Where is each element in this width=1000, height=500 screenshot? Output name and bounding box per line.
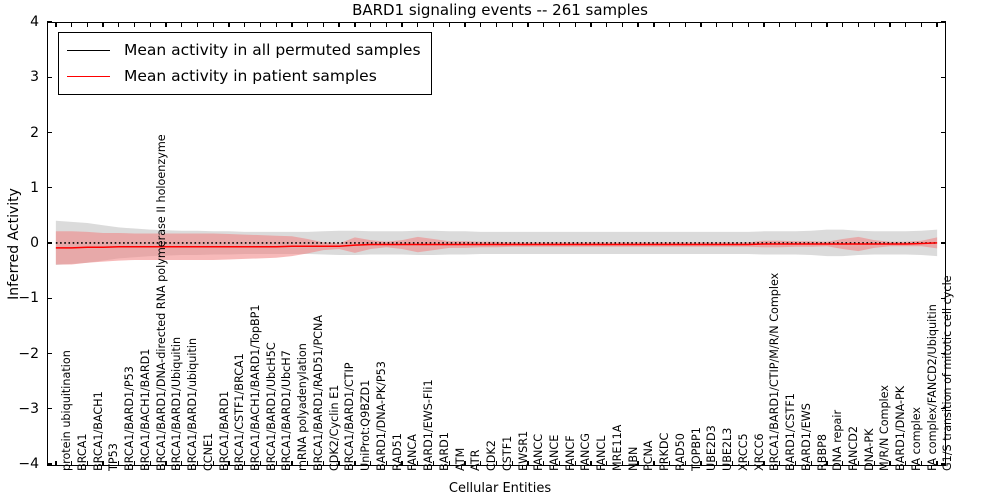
- y-tick-label: 3: [30, 69, 39, 85]
- x-tick: [590, 23, 591, 27]
- x-tick: [653, 23, 654, 27]
- y-tick: [47, 21, 52, 22]
- y-tick-label: 1: [30, 180, 39, 196]
- x-tick: [889, 23, 890, 27]
- y-tick: [941, 21, 946, 22]
- legend-label-patient: Mean activity in patient samples: [124, 67, 377, 85]
- x-tick: [433, 23, 434, 27]
- y-tick: [47, 77, 52, 78]
- y-tick-label: 2: [30, 125, 39, 141]
- x-tick: [858, 23, 859, 27]
- x-tick-label: ATM: [454, 448, 467, 471]
- x-tick-label: NBN: [627, 447, 640, 471]
- y-tick: [941, 187, 946, 188]
- x-tick: [763, 23, 764, 27]
- x-tick-label: BARD1/EWS: [800, 403, 813, 471]
- x-tick: [354, 23, 355, 27]
- x-tick: [228, 23, 229, 27]
- x-tick-label: RBBP8: [816, 434, 829, 471]
- x-tick-label: FANCC: [532, 434, 545, 471]
- x-tick: [559, 23, 560, 27]
- x-tick: [323, 23, 324, 27]
- chart-title: BARD1 signaling events -- 261 samples: [0, 1, 1000, 19]
- x-tick: [795, 23, 796, 27]
- y-tick: [941, 77, 946, 78]
- x-tick: [921, 23, 922, 27]
- x-tick-label: protein ubiquitination: [60, 350, 73, 471]
- x-tick-label: FANCG: [579, 433, 592, 471]
- x-tick-label: BRCA1/BACH1/BARD1/TopBP1: [249, 304, 262, 471]
- x-tick-label: PCNA: [642, 440, 655, 471]
- y-tick: [47, 242, 52, 243]
- x-tick: [685, 23, 686, 27]
- x-tick-label: BRCA1: [76, 434, 89, 471]
- x-tick: [496, 23, 497, 27]
- x-tick: [748, 23, 749, 27]
- y-tick: [941, 132, 946, 133]
- x-tick-label: BARD1/DNA-PK: [894, 386, 907, 471]
- x-tick-label: UniProt:Q9BZD1: [359, 380, 372, 471]
- x-tick: [181, 23, 182, 27]
- x-tick-label: EWSR1: [517, 431, 530, 471]
- x-tick-label: M/R/N Complex: [878, 385, 891, 471]
- x-tick-label: FANCF: [564, 435, 577, 471]
- x-tick: [449, 23, 450, 27]
- x-tick-label: BRCA1/CSTF1/BRCA1: [233, 353, 246, 471]
- x-tick: [55, 23, 56, 27]
- x-tick-label: DNA-PK: [863, 428, 876, 471]
- x-tick-label: BRCA1/BARD1/RAD51/PCNA: [312, 315, 325, 471]
- x-tick: [244, 23, 245, 27]
- legend-item-permuted: Mean activity in all permuted samples: [67, 37, 421, 63]
- x-tick: [386, 23, 387, 27]
- x-tick: [732, 23, 733, 27]
- x-tick-label: UBE2D3: [705, 425, 718, 471]
- x-tick-label: BRCA1/BACH1: [92, 391, 105, 471]
- x-tick: [543, 23, 544, 27]
- legend: Mean activity in all permuted samples Me…: [58, 32, 432, 95]
- y-tick-label: 0: [30, 235, 39, 251]
- legend-line-swatch-black: [67, 50, 110, 51]
- x-tick-label: BRCA1/BARD1: [218, 391, 231, 471]
- y-tick-label: −4: [18, 456, 39, 472]
- x-tick: [338, 23, 339, 27]
- x-tick: [260, 23, 261, 27]
- x-tick-label: CSTF1: [501, 436, 514, 471]
- x-tick: [165, 23, 166, 27]
- x-tick: [669, 23, 670, 27]
- x-tick: [700, 23, 701, 27]
- y-tick: [941, 242, 946, 243]
- x-tick-label: XRCC5: [737, 433, 750, 471]
- x-tick: [213, 23, 214, 27]
- x-tick: [480, 23, 481, 27]
- x-tick-label: CCNE1: [202, 433, 215, 471]
- chart-root: BARD1 signaling events -- 261 samples 43…: [0, 0, 1000, 500]
- y-tick: [47, 187, 52, 188]
- y-tick: [47, 408, 52, 409]
- x-tick-label: TOPBP1: [690, 427, 703, 471]
- x-tick: [527, 23, 528, 27]
- legend-label-permuted: Mean activity in all permuted samples: [124, 41, 421, 59]
- x-tick-label: FANCD2: [847, 426, 860, 471]
- x-tick: [55, 461, 56, 465]
- x-tick: [87, 23, 88, 27]
- legend-item-patient: Mean activity in patient samples: [67, 63, 421, 89]
- x-tick-label: BARD1: [438, 432, 451, 471]
- x-tick: [905, 23, 906, 27]
- x-tick-label: TP53: [107, 443, 120, 471]
- x-tick: [779, 23, 780, 27]
- x-tick-label: CDK2/Cyclin E1: [328, 385, 341, 471]
- x-tick: [606, 23, 607, 27]
- x-tick-label: DNA repair: [831, 410, 844, 471]
- x-tick: [417, 23, 418, 27]
- x-tick-label: BRCA1/BARD1/P53: [123, 366, 136, 471]
- x-tick: [512, 23, 513, 27]
- x-tick: [150, 23, 151, 27]
- x-tick: [716, 23, 717, 27]
- x-tick-label: BRCA1/BARD1/UbcH5C: [265, 342, 278, 471]
- y-tick: [47, 353, 52, 354]
- x-tick-label: MRE11A: [611, 425, 624, 471]
- x-tick: [71, 23, 72, 27]
- x-tick-label: mRNA polyadenylation: [296, 343, 309, 471]
- x-tick-label: RAD50: [674, 433, 687, 471]
- x-tick: [291, 23, 292, 27]
- y-tick-label: 4: [30, 14, 39, 30]
- x-tick-label: FANCA: [406, 434, 419, 471]
- y-tick: [47, 132, 52, 133]
- y-tick-label: −3: [18, 401, 39, 417]
- x-tick: [102, 23, 103, 27]
- y-tick: [47, 463, 52, 464]
- x-tick: [637, 23, 638, 27]
- x-tick: [134, 23, 135, 27]
- x-tick-label: BRCA1/BARD1/UbcH7: [280, 350, 293, 471]
- x-axis-title: Cellular Entities: [0, 481, 1000, 496]
- x-tick: [307, 23, 308, 27]
- x-tick: [197, 23, 198, 27]
- x-tick-label: RAD51: [391, 433, 404, 471]
- x-tick: [370, 23, 371, 27]
- x-tick: [622, 23, 623, 27]
- x-tick-label: BRCA1/BARD1/CTIP: [343, 362, 356, 471]
- y-tick-label: −2: [18, 346, 39, 362]
- x-tick-label: BARD1/DNA-PK/P53: [375, 361, 388, 471]
- x-tick-label: BRCA1/BARD1/ubiquitin: [186, 338, 199, 471]
- x-tick: [811, 23, 812, 27]
- x-tick: [826, 23, 827, 27]
- x-tick-label: BARD1/CSTF1: [784, 393, 797, 471]
- x-tick-label: FANCL: [595, 436, 608, 471]
- x-tick-label: BRCA1/BACH1/BARD1: [139, 349, 152, 471]
- x-tick-label: ATR: [469, 450, 482, 471]
- x-tick-label: FANCE: [548, 435, 561, 471]
- x-tick-label: BRCA1/BARD1/DNA-directed RNA polymerase …: [155, 134, 168, 471]
- x-tick: [276, 23, 277, 27]
- x-tick: [874, 23, 875, 27]
- y-tick: [47, 298, 52, 299]
- x-tick-label: CDK2: [485, 440, 498, 471]
- legend-line-swatch-red: [67, 76, 110, 77]
- x-tick-label: BARD1/EWS-Fli1: [422, 379, 435, 471]
- x-tick: [118, 23, 119, 27]
- x-tick-label: BRCA1/BARD1/Ubiquitin: [170, 337, 183, 471]
- x-tick-label: FA complex: [910, 407, 923, 471]
- x-tick-label: PRKDC: [658, 433, 671, 471]
- x-tick-label: UBE2L3: [721, 428, 734, 471]
- y-axis-title: Inferred Activity: [6, 188, 22, 300]
- x-tick-label: FA complex/FANCD2/Ubiquitin: [926, 304, 939, 471]
- x-tick: [936, 23, 937, 27]
- x-tick-label: XRCC6: [753, 433, 766, 471]
- x-tick: [842, 23, 843, 27]
- x-tick: [464, 23, 465, 27]
- x-tick: [575, 23, 576, 27]
- x-tick: [401, 23, 402, 27]
- x-tick-label: BRCA1/BARD1/CTIP/M/R/N Complex: [768, 273, 781, 471]
- x-tick-label: G1/S transition of mitotic cell cycle: [941, 275, 954, 471]
